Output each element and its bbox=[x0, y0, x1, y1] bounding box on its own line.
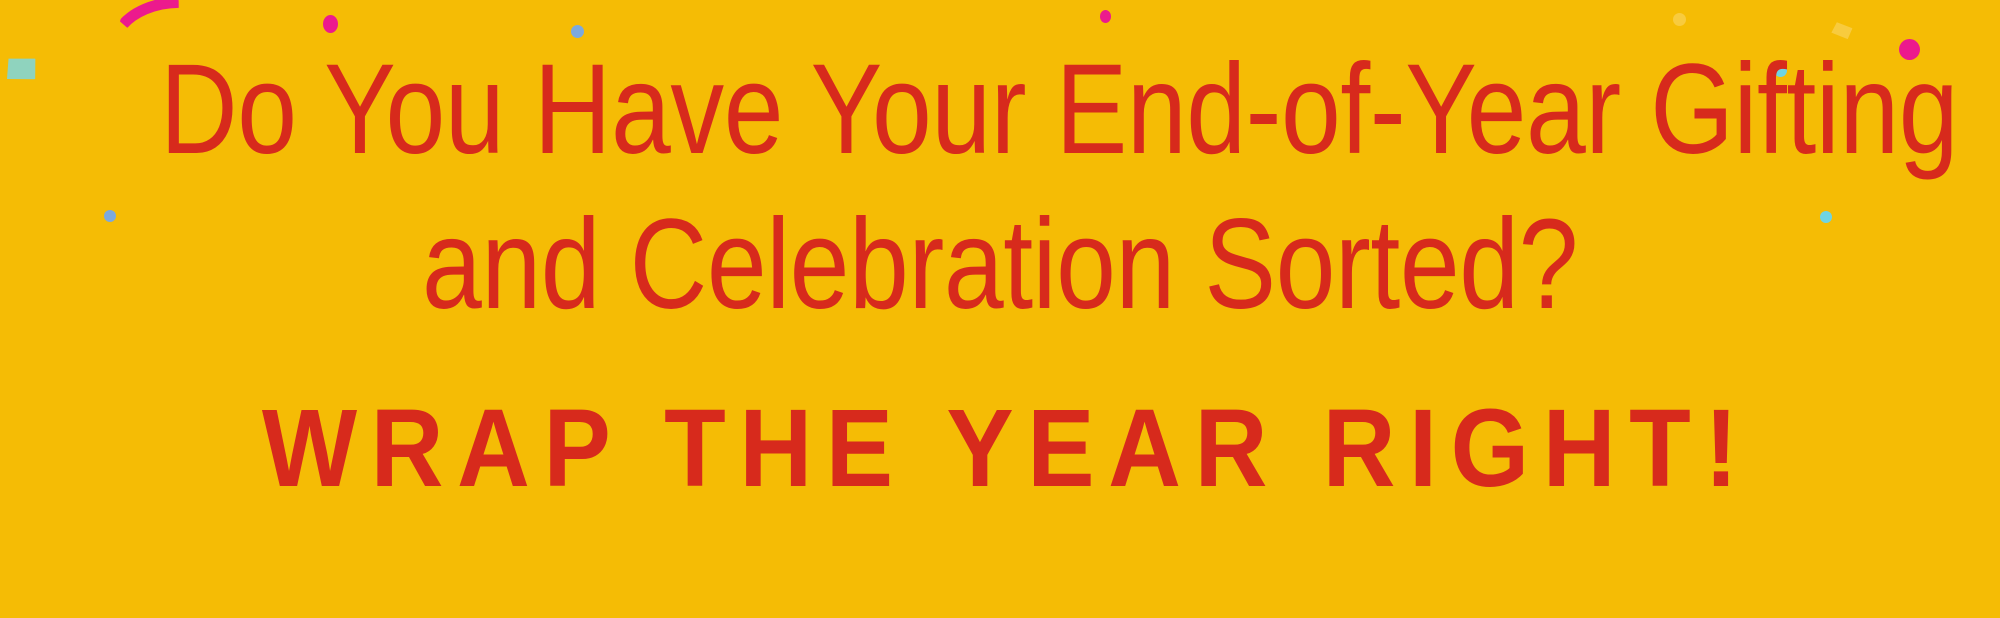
headline-container: Do You Have Your End-of-Year Gifting and… bbox=[0, 32, 2000, 342]
page-title: Do You Have Your End-of-Year Gifting and… bbox=[160, 32, 1840, 342]
promo-banner: Do You Have Your End-of-Year Gifting and… bbox=[0, 0, 2000, 618]
tagline: WRAP THE YEAR RIGHT! bbox=[248, 391, 1751, 508]
tagline-container: WRAP THE YEAR RIGHT! bbox=[0, 394, 2000, 504]
headline-line-2: and Celebration Sorted? bbox=[160, 187, 1840, 342]
headline-line-1: Do You Have Your End-of-Year Gifting bbox=[160, 32, 1840, 187]
banner-text-block: Do You Have Your End-of-Year Gifting and… bbox=[0, 0, 2000, 618]
